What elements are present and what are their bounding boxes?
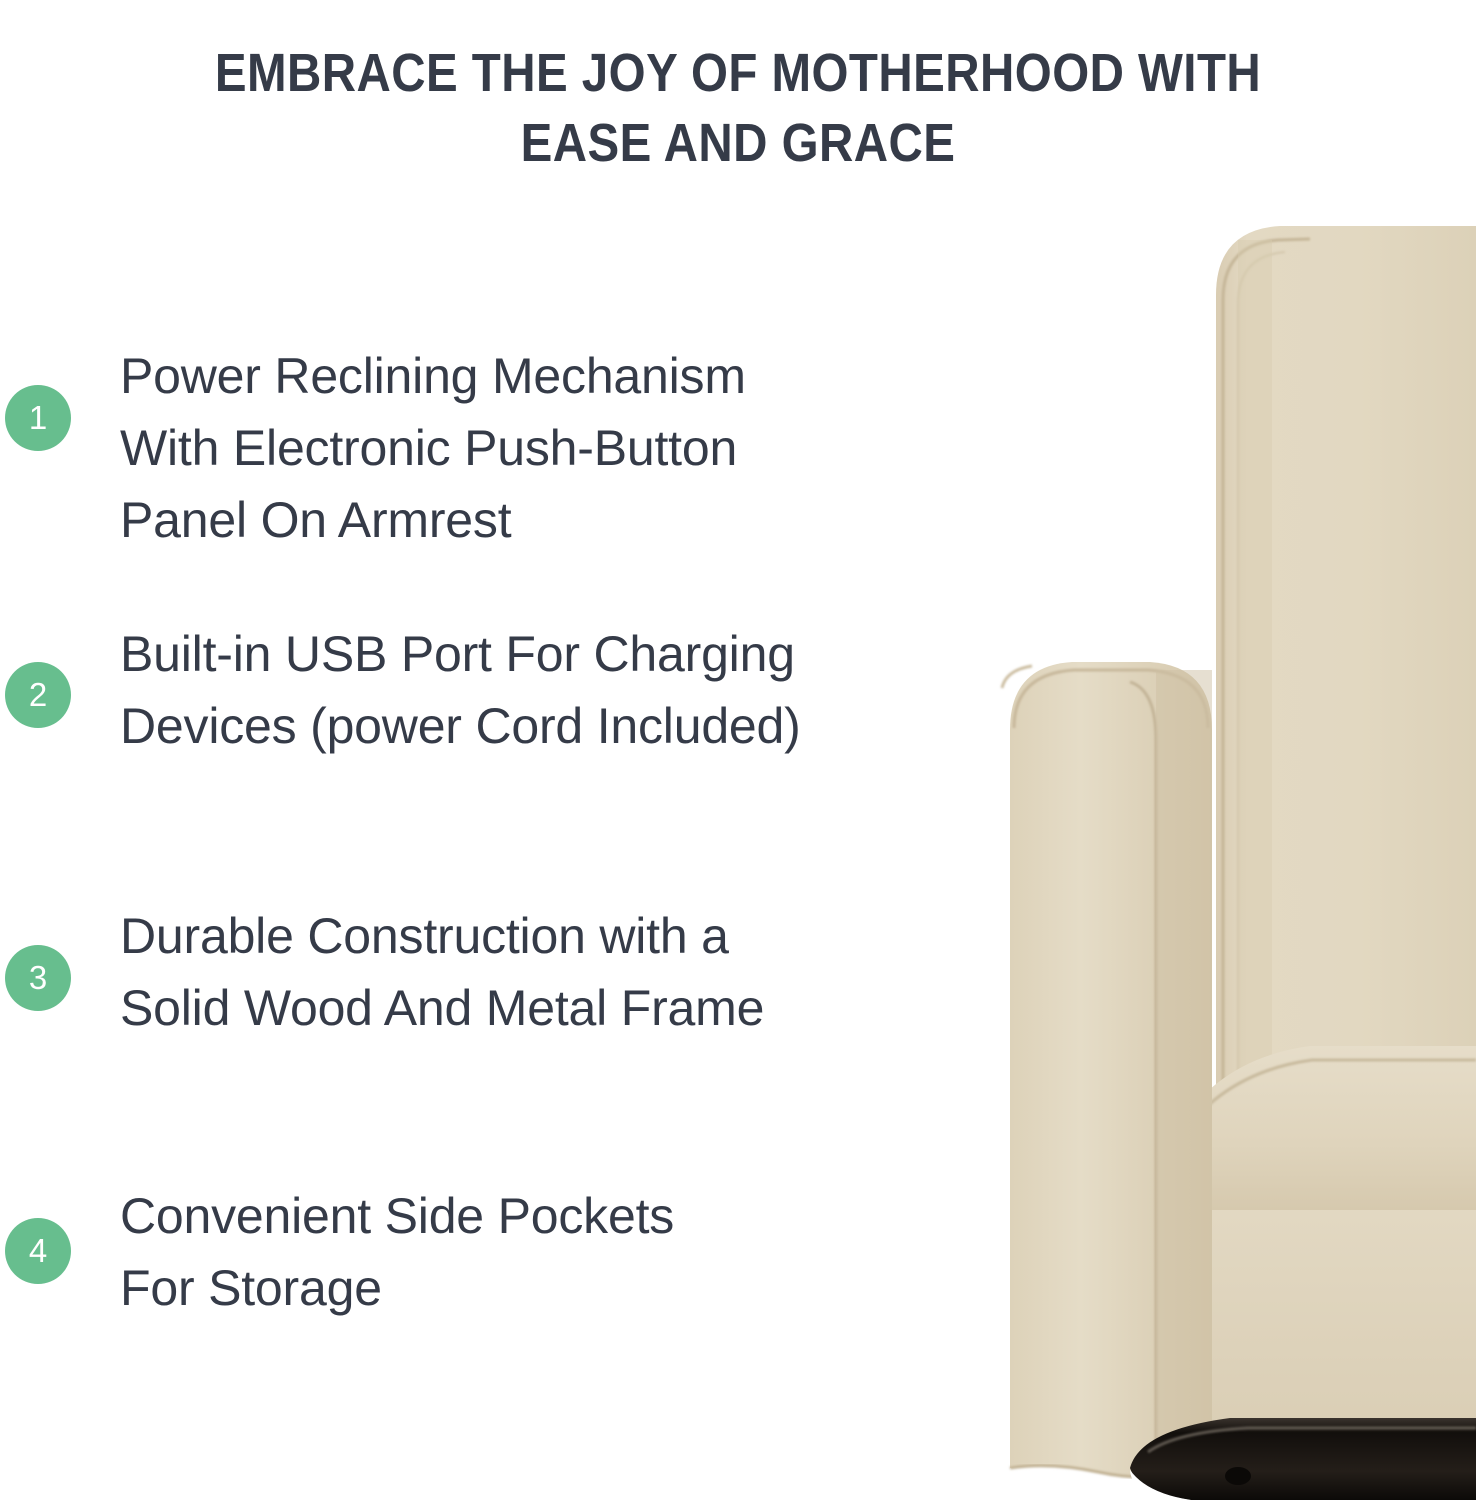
feature-text-line: Devices (power Cord Included): [120, 690, 990, 762]
feature-text: Power Reclining Mechanism With Electroni…: [120, 340, 990, 556]
infographic-page: EMBRACE THE JOY OF MOTHERHOOD WITH EASE …: [0, 0, 1476, 1500]
feature-text-line: Panel On Armrest: [120, 484, 990, 556]
feature-text: Durable Construction with a Solid Wood A…: [120, 900, 990, 1044]
feature-number-badge: 3: [5, 945, 71, 1011]
chair-armrest: [1002, 662, 1212, 1500]
feature-text: Convenient Side Pockets For Storage: [120, 1180, 990, 1324]
feature-text-line: Power Reclining Mechanism: [120, 340, 990, 412]
feature-text-line: Durable Construction with a: [120, 900, 990, 972]
feature-number-badge: 4: [5, 1218, 71, 1284]
feature-text-line: Convenient Side Pockets: [120, 1180, 990, 1252]
page-title-line-1: EMBRACE THE JOY OF MOTHERHOOD WITH: [124, 38, 1352, 108]
page-title: EMBRACE THE JOY OF MOTHERHOOD WITH EASE …: [124, 38, 1352, 178]
feature-text-line: For Storage: [120, 1252, 990, 1324]
product-image: [980, 200, 1476, 1500]
feature-number-badge: 1: [5, 385, 71, 451]
feature-text-line: With Electronic Push-Button: [120, 412, 990, 484]
feature-text-line: Solid Wood And Metal Frame: [120, 972, 990, 1044]
feature-text: Built-in USB Port For Charging Devices (…: [120, 618, 990, 762]
feature-number-badge: 2: [5, 662, 71, 728]
chair-swivel-base: [1130, 1418, 1476, 1500]
page-title-line-2: EASE AND GRACE: [124, 108, 1352, 178]
feature-text-line: Built-in USB Port For Charging: [120, 618, 990, 690]
